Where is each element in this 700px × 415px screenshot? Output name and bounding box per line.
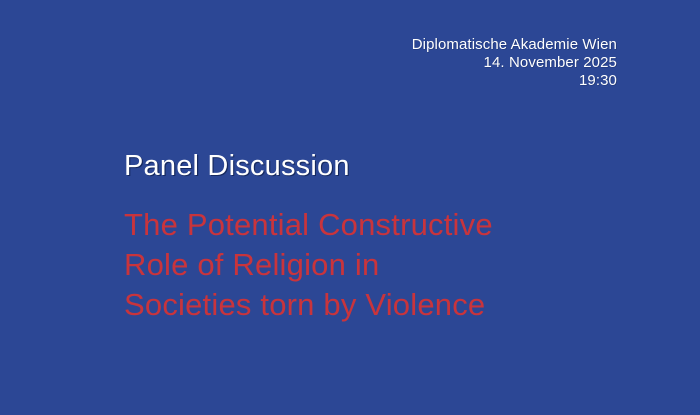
event-meta: Diplomatische Akademie Wien 14. November… [412, 36, 617, 90]
headline-line-1: The Potential Constructive [124, 205, 654, 245]
headline-line-3: Societies torn by Violence [124, 285, 654, 325]
event-venue: Diplomatische Akademie Wien [412, 36, 617, 54]
title-block: Panel Discussion The Potential Construct… [124, 148, 654, 325]
event-announcement-slide: Diplomatische Akademie Wien 14. November… [0, 0, 700, 415]
event-time: 19:30 [412, 72, 617, 90]
event-type-label: Panel Discussion [124, 148, 654, 184]
event-date: 14. November 2025 [412, 54, 617, 72]
event-headline: The Potential Constructive Role of Relig… [124, 205, 654, 325]
headline-line-2: Role of Religion in [124, 245, 654, 285]
